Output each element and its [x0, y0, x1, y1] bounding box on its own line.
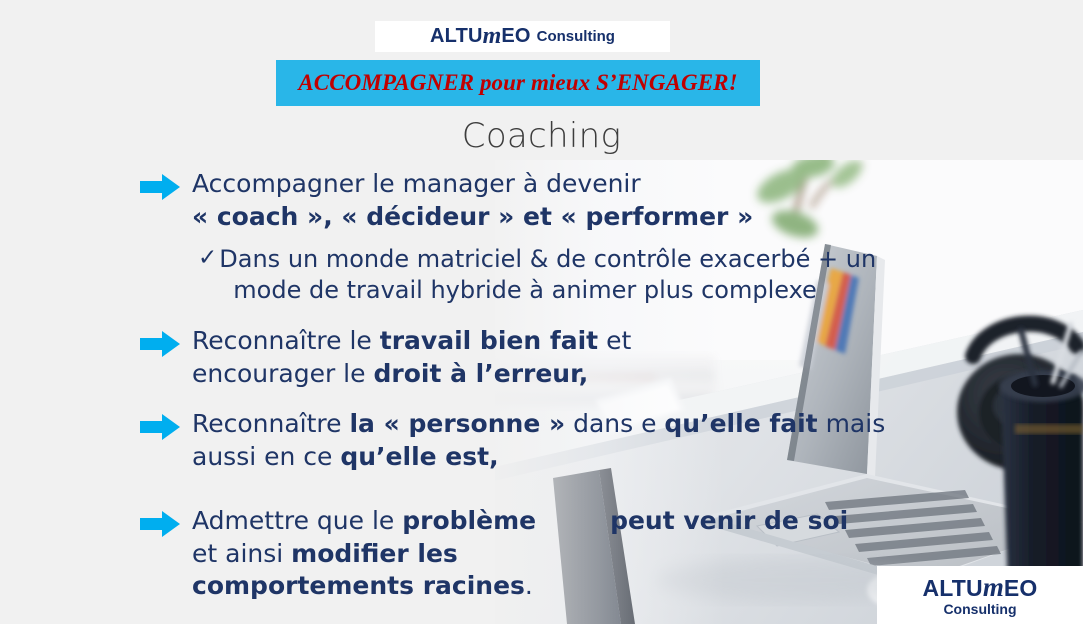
arrow-right-icon	[140, 331, 180, 357]
list-item-text: Admettre que le problèmepeut venir de so…	[192, 505, 848, 603]
bullet4-seg2: problème	[402, 506, 536, 535]
subbullet-line1: Dans un monde matriciel & de contrôle ex…	[219, 245, 876, 273]
logo-text-part1: ALTU	[430, 25, 483, 48]
list-item: Accompagner le manager à devenir « coach…	[140, 168, 753, 233]
tagline-text: ACCOMPAGNER pour mieux S’ENGAGER!	[298, 70, 737, 96]
arrow-right-icon	[140, 511, 180, 537]
bullet2-seg3: et	[598, 326, 631, 355]
bullet2-seg2: travail bien fait	[380, 326, 598, 355]
sub-list-item: ✓ Dans un monde matriciel & de contrôle …	[198, 244, 876, 306]
footer-logo-part2: EO	[1004, 575, 1038, 601]
logo-monogram-m: m	[483, 23, 502, 50]
list-item: Reconnaître le travail bien fait et enco…	[140, 325, 631, 390]
bullet1-line2: « coach », « décideur » et « performer »	[192, 202, 753, 231]
bullet2-seg1: Reconnaître le	[192, 326, 380, 355]
footer-logo-subtitle: Consulting	[943, 602, 1016, 617]
bullet3-seg2: la « personne »	[349, 409, 565, 438]
bullet3-seg7: qu’elle est,	[340, 442, 498, 471]
logo-text-part2: EO	[501, 25, 530, 48]
subbullet-line2: mode de travail hybride à animer plus co…	[219, 275, 876, 306]
sub-list-item-text: Dans un monde matriciel & de contrôle ex…	[219, 244, 876, 306]
arrow-right-icon	[140, 414, 180, 440]
bullet3-seg6: aussi en ce	[192, 442, 340, 471]
footer-logo-part1: ALTU	[922, 575, 982, 601]
bullet4-seg4: et ainsi	[192, 539, 291, 568]
tagline-banner: ACCOMPAGNER pour mieux S’ENGAGER!	[276, 60, 760, 106]
arrow-right-icon	[140, 174, 180, 200]
list-item: Admettre que le problèmepeut venir de so…	[140, 505, 848, 603]
bullet2-seg5: droit à l’erreur,	[373, 359, 588, 388]
bullet3-seg5: mais	[818, 409, 886, 438]
bullet3-seg1: Reconnaître	[192, 409, 349, 438]
header-logo-plate: ALTUmEOConsulting	[375, 21, 670, 52]
list-item: Reconnaître la « personne » dans e qu’el…	[140, 408, 885, 473]
bullet4-seg3: peut venir de soi	[610, 506, 848, 535]
bullet4-seg7: .	[525, 571, 533, 600]
check-icon: ✓	[198, 244, 217, 274]
bullet3-seg3: dans e	[565, 409, 664, 438]
bullet1-line1: Accompagner le manager à devenir	[192, 169, 641, 198]
page-title: Coaching	[0, 116, 1083, 156]
bullet4-seg6: comportements racines	[192, 571, 525, 600]
slide: ALTUmEOConsulting ACCOMPAGNER pour mieux…	[0, 0, 1083, 624]
footer-logo-monogram-m: m	[983, 572, 1004, 602]
bullet3-seg4: qu’elle fait	[664, 409, 817, 438]
footer-logo-plate: ALTUmEO Consulting	[877, 566, 1083, 624]
bullet4-seg1: Admettre que le	[192, 506, 402, 535]
list-item-text: Reconnaître le travail bien fait et enco…	[192, 325, 631, 390]
logo-subtitle: Consulting	[537, 28, 615, 45]
list-item-text: Reconnaître la « personne » dans e qu’el…	[192, 408, 885, 473]
footer-logo-wordmark: ALTUmEO	[922, 573, 1037, 601]
bullet2-seg4: encourager le	[192, 359, 373, 388]
list-item-text: Accompagner le manager à devenir « coach…	[192, 168, 753, 233]
bullet4-seg5: modifier les	[291, 539, 458, 568]
